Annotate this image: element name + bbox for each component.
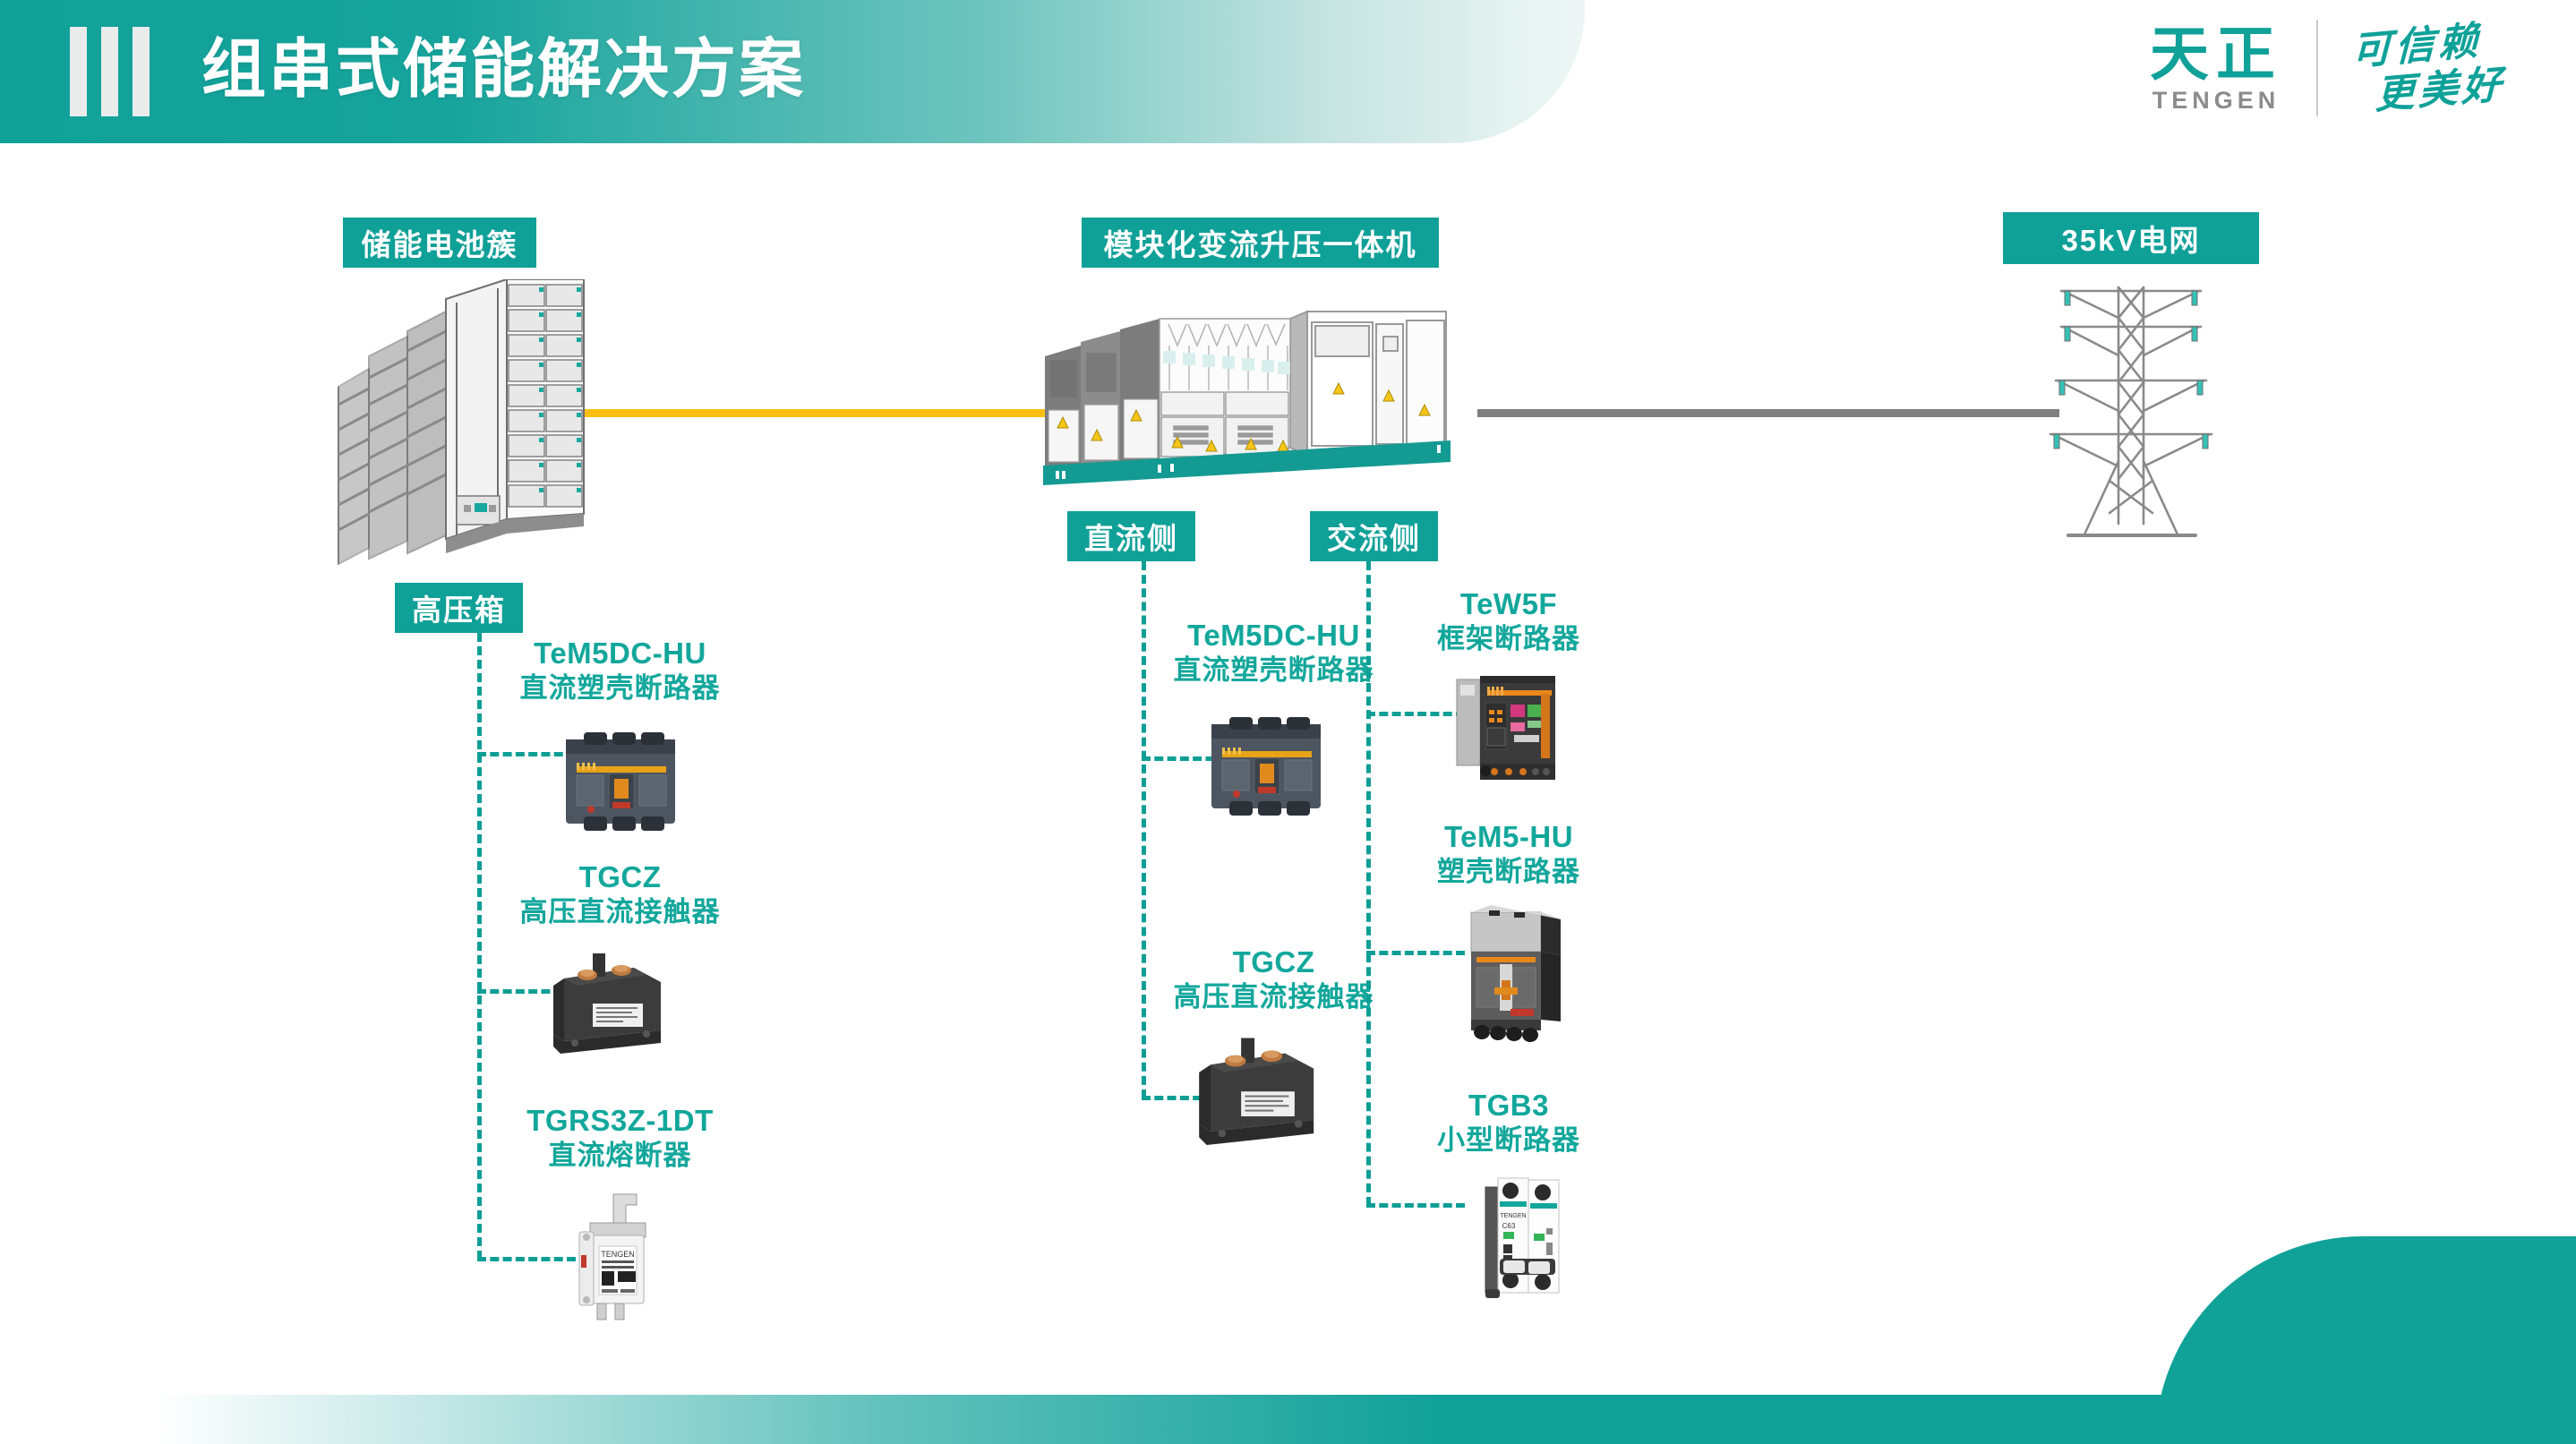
branch-stub-ac-2 [1366,951,1465,955]
label-dc-side: 直流侧 [1067,511,1195,561]
svg-text:TENGEN: TENGEN [1500,1213,1526,1219]
product-desc: 直流熔断器 [501,1139,739,1173]
product-model: TGB3 [1406,1088,1612,1124]
label-battery-cluster: 储能电池簇 [343,218,536,268]
product-caption: TeM5-HU 塑壳断路器 [1406,819,1612,889]
label-ac-side: 交流侧 [1310,511,1438,561]
product-caption: TGRS3Z-1DT 直流熔断器 [501,1103,739,1173]
product-model: TGCZ [501,859,739,895]
page-header: 组串式储能解决方案 [0,0,1585,143]
product-model: TGCZ [1155,944,1392,980]
product-image-acb [1448,667,1569,788]
product-model: TeM5-HU [1406,819,1612,855]
product-desc: 高压直流接触器 [501,895,739,929]
label-grid: 35kV电网 [2003,212,2259,264]
branch-trunk-ac-side [1366,561,1371,1206]
brand-logo: 天正 TENGEN 可信赖 更美好 [2150,20,2504,116]
product-image-contactor [1182,1028,1325,1149]
product-desc: 框架断路器 [1406,622,1612,656]
ac-bus-line [1477,409,2059,417]
product-desc: 直流塑壳断路器 [501,671,739,705]
product-image-mccb-grey [1455,900,1571,1047]
dc-bus-line [585,409,1049,417]
product-desc: 小型断路器 [1406,1124,1612,1158]
branch-trunk-high-voltage-box [477,633,482,1260]
page-title: 组串式储能解决方案 [201,20,806,120]
product-model: TeW5F [1406,586,1612,622]
svg-text:TENGEN: TENGEN [601,1250,635,1259]
product-caption: TeW5F 框架断路器 [1406,586,1612,656]
product-caption: TeM5DC-HU 直流塑壳断路器 [501,636,739,705]
product-image-contactor [537,944,672,1056]
product-caption: TeM5DC-HU 直流塑壳断路器 [1155,618,1392,688]
product-caption: TGCZ 高压直流接触器 [1155,944,1392,1014]
logo-slogan: 可信赖 更美好 [2352,26,2504,110]
product-image-mccb-dark [1195,703,1339,828]
product-model: TeM5DC-HU [501,636,739,671]
product-image-fuse: TENGEN [560,1191,676,1325]
label-high-voltage-box: 高压箱 [395,583,523,633]
svg-text:C63: C63 [1502,1222,1516,1230]
product-desc: 高压直流接触器 [1155,980,1392,1014]
product-desc: 塑壳断路器 [1406,855,1612,889]
logo-chinese-name: 天正 [2150,22,2282,85]
product-desc: 直流塑壳断路器 [1155,654,1392,688]
logo-english-name: TENGEN [2152,87,2281,115]
label-converter: 模块化变流升压一体机 [1082,218,1439,268]
branch-trunk-dc-side [1142,561,1146,1098]
product-caption: TGCZ 高压直流接触器 [501,859,739,929]
logo-divider [2316,20,2318,116]
branch-stub-ac-3 [1366,1203,1465,1208]
three-bars-icon [70,27,150,116]
product-model: TGRS3Z-1DT [501,1103,739,1139]
logo-mark: 天正 TENGEN [2150,22,2282,115]
transmission-tower-illustration [2041,282,2221,542]
footer-corner-decoration [2155,1236,2576,1444]
product-caption: TGB3 小型断路器 [1406,1088,1612,1158]
converter-skid-illustration [1043,304,1451,492]
product-model: TeM5DC-HU [1155,618,1392,654]
product-image-mccb-dark [550,727,693,834]
battery-cluster-illustration [322,279,591,575]
product-image-mcb: TENGEN C63 [1473,1164,1576,1307]
logo-slogan-line-2: 更美好 [2375,65,2505,115]
